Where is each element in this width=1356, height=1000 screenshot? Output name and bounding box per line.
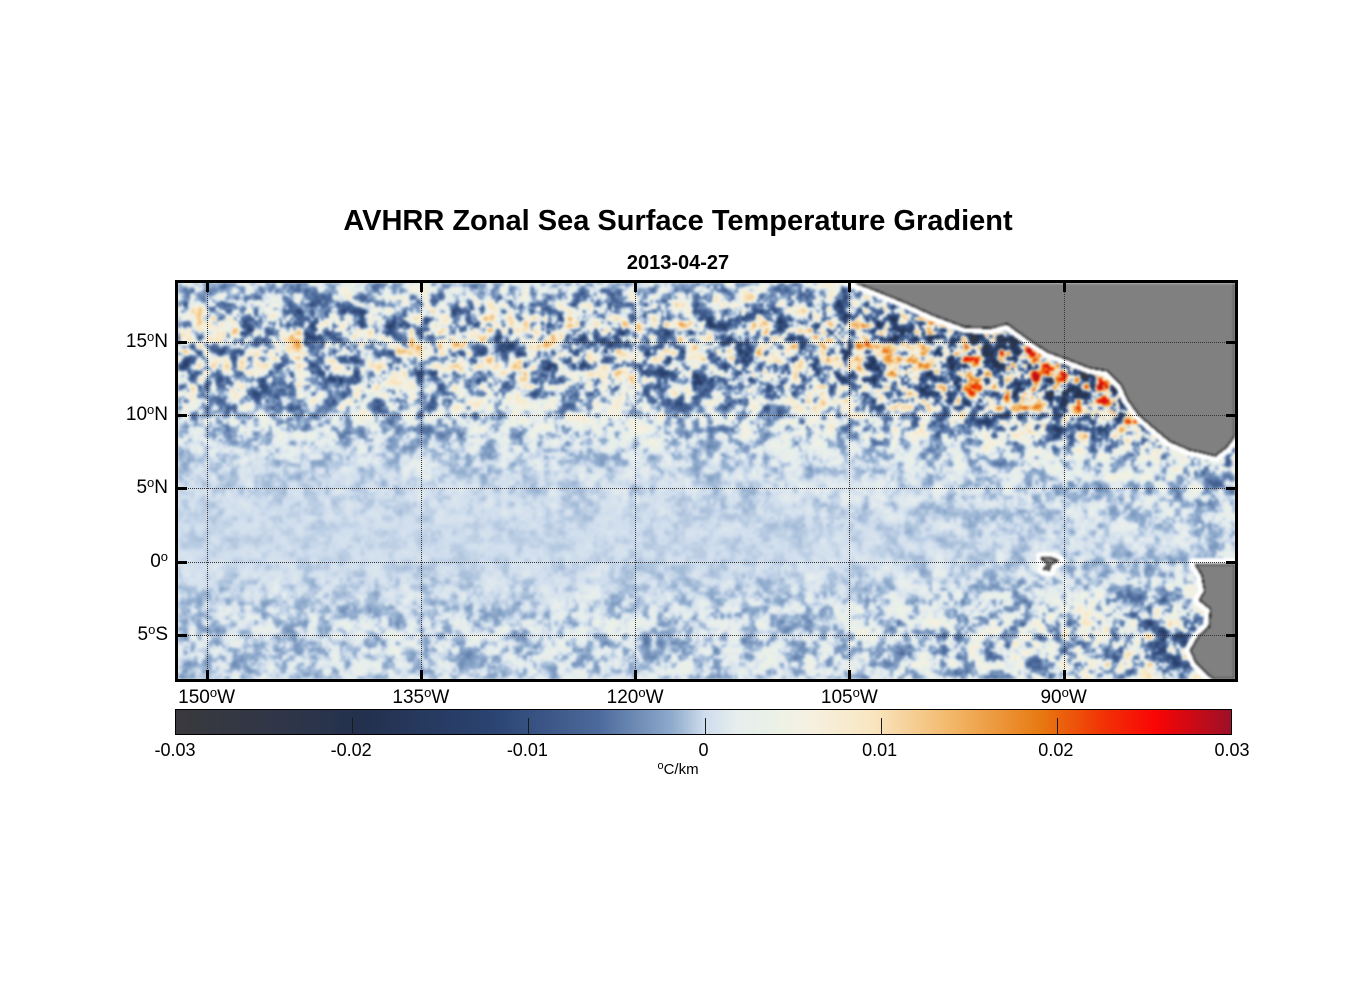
axis-tick: [178, 634, 187, 637]
colorbar-gradient: [176, 710, 1231, 734]
colorbar-tick-label: 0.02: [1038, 740, 1073, 761]
axis-tick: [1226, 634, 1235, 637]
colorbar-tick-label: -0.03: [154, 740, 195, 761]
colorbar-tick-label: 0.01: [862, 740, 897, 761]
colorbar-tick: [705, 718, 706, 735]
axis-tick: [178, 414, 187, 417]
figure-canvas: AVHRR Zonal Sea Surface Temperature Grad…: [0, 0, 1356, 1000]
axis-tick: [178, 487, 187, 490]
x-tick-label: 150oW: [178, 687, 235, 709]
axis-tick: [178, 561, 187, 564]
y-tick-label: 15oN: [126, 331, 168, 353]
colorbar-tick-label: -0.01: [507, 740, 548, 761]
y-tick-label: 5oS: [138, 624, 169, 646]
colorbar-tick: [1057, 718, 1058, 735]
map-plot-area[interactable]: [175, 280, 1238, 682]
axis-tick: [1226, 414, 1235, 417]
x-tick-label: 105oW: [821, 687, 878, 709]
axis-tick: [206, 670, 209, 679]
colorbar-tick-label: 0: [698, 740, 708, 761]
colorbar-tick-label: 0.03: [1214, 740, 1249, 761]
figure-subtitle: 2013-04-27: [0, 252, 1356, 275]
axis-tick: [1226, 561, 1235, 564]
colorbar-tick-label: -0.02: [331, 740, 372, 761]
x-tick-label: 135oW: [392, 687, 449, 709]
y-tick-label: 0o: [150, 551, 168, 573]
axis-tick: [1063, 670, 1066, 679]
axis-tick: [634, 283, 637, 292]
colorbar-units-label: oC/km: [0, 761, 1356, 778]
axis-tick: [1063, 283, 1066, 292]
axis-tick: [206, 283, 209, 292]
colorbar[interactable]: [175, 709, 1232, 735]
page-title: AVHRR Zonal Sea Surface Temperature Grad…: [0, 205, 1356, 238]
sst-gradient-heatmap: [178, 283, 1235, 679]
colorbar-tick: [352, 718, 353, 735]
y-tick-label: 5oN: [136, 477, 168, 499]
axis-tick: [420, 283, 423, 292]
axis-tick: [1226, 341, 1235, 344]
axis-tick: [178, 341, 187, 344]
axis-tick: [420, 670, 423, 679]
colorbar-tick: [528, 718, 529, 735]
axis-tick: [1226, 487, 1235, 490]
x-tick-label: 90oW: [1040, 687, 1086, 709]
axis-tick: [848, 283, 851, 292]
y-tick-label: 10oN: [126, 404, 168, 426]
axis-tick: [848, 670, 851, 679]
axis-tick: [634, 670, 637, 679]
x-tick-label: 120oW: [607, 687, 664, 709]
colorbar-tick: [881, 718, 882, 735]
